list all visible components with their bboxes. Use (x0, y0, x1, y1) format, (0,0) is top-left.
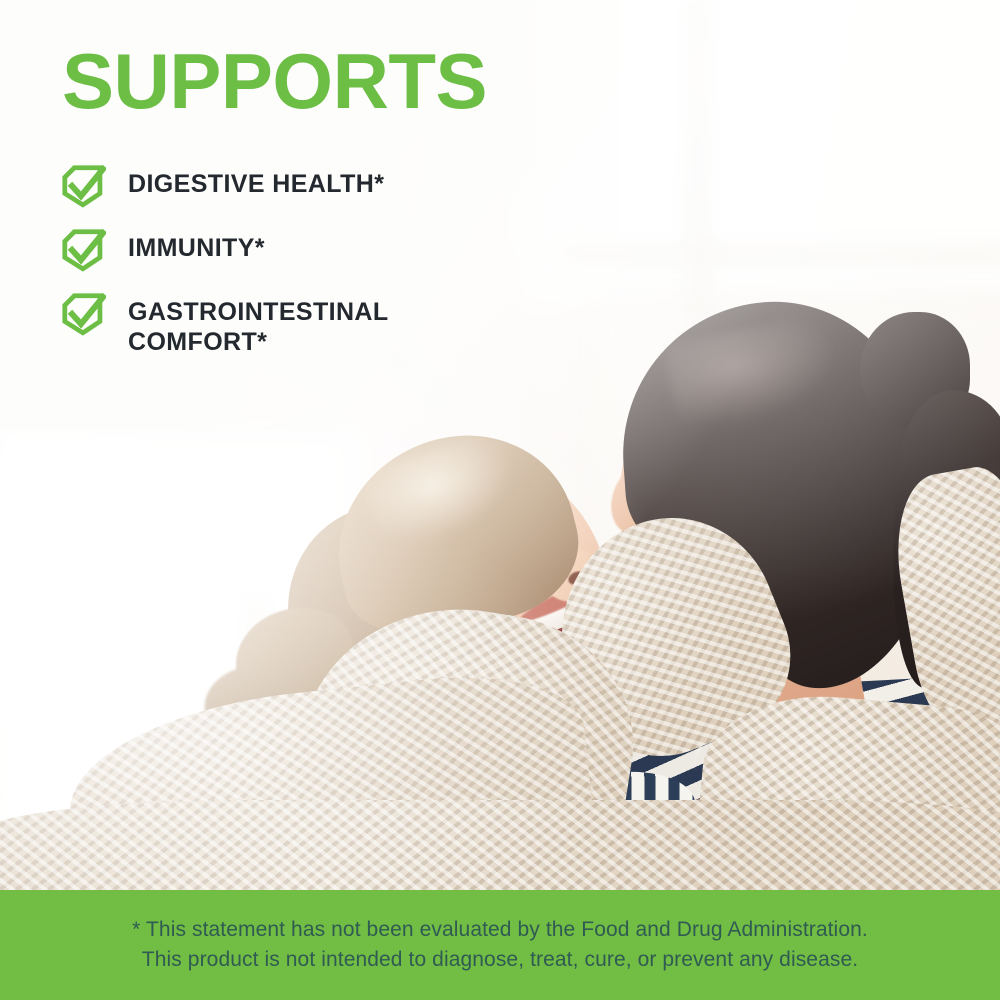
benefit-label: DIGESTIVE HEALTH* (128, 163, 384, 200)
benefit-label: IMMUNITY* (128, 227, 265, 264)
benefit-item-gastrointestinal-comfort: GASTROINTESTINAL COMFORT* (60, 291, 530, 357)
benefit-item-digestive-health: DIGESTIVE HEALTH* (60, 163, 530, 209)
disclaimer-line-2: This product is not intended to diagnose… (142, 945, 858, 975)
page-title: SUPPORTS (62, 42, 487, 120)
benefit-label: GASTROINTESTINAL COMFORT* (128, 291, 389, 357)
benefit-item-immunity: IMMUNITY* (60, 227, 530, 273)
lifestyle-photo (0, 0, 1000, 890)
check-square-icon (60, 227, 106, 273)
check-square-icon (60, 291, 106, 337)
knit-blanket (0, 800, 1000, 890)
disclaimer-bar: * This statement has not been evaluated … (0, 890, 1000, 1000)
infographic-canvas: SUPPORTS DIGESTIVE HEALTH* IMMUNITY* (0, 0, 1000, 1000)
benefits-list: DIGESTIVE HEALTH* IMMUNITY* GASTROINTEST… (60, 163, 530, 357)
check-square-icon (60, 163, 106, 209)
disclaimer-line-1: * This statement has not been evaluated … (132, 915, 868, 945)
